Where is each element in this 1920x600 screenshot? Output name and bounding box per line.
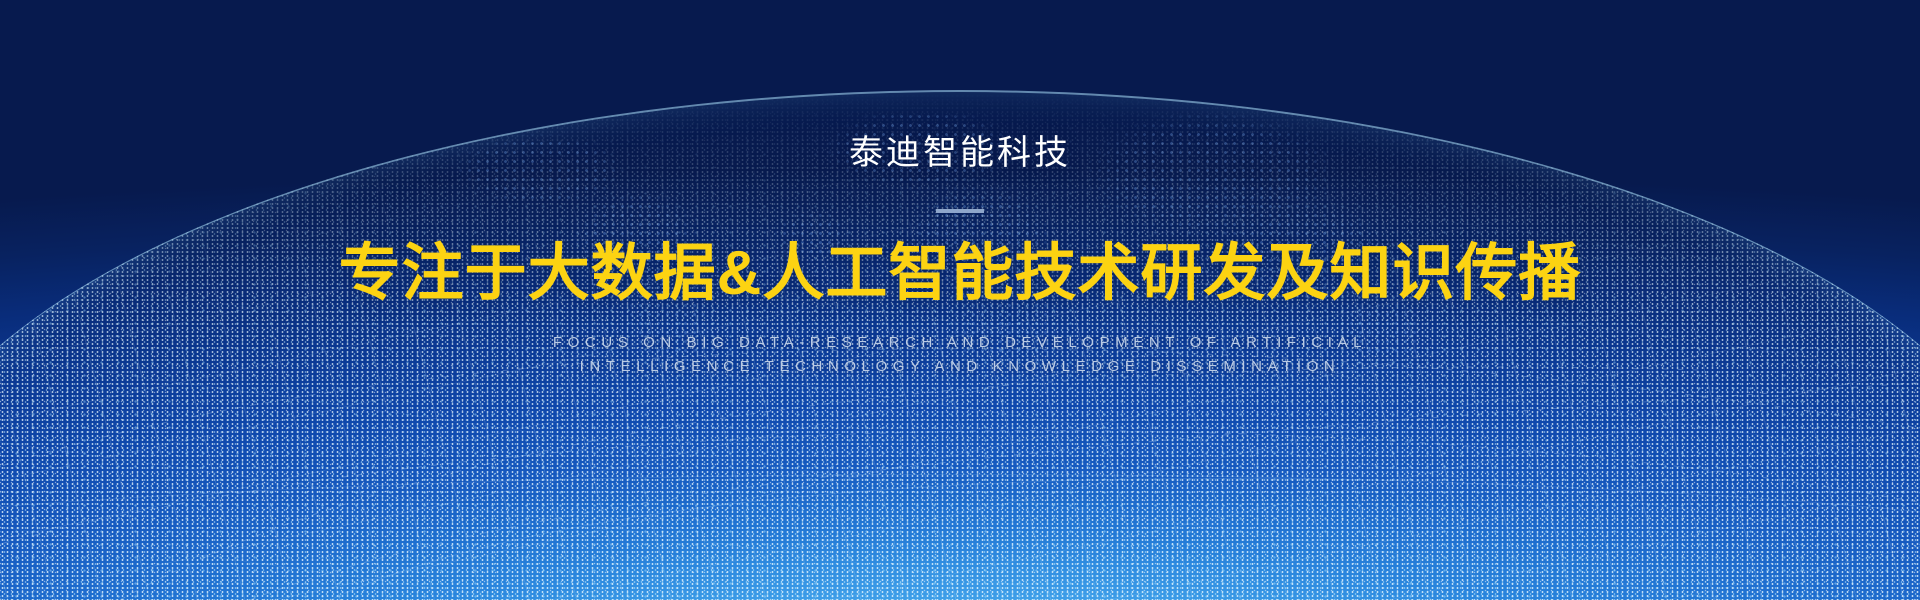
english-subtitle-line-2: INTELLIGENCE TECHNOLOGY AND KNOWLEDGE DI… [553, 355, 1367, 379]
page-title: 专注于大数据&人工智能技术研发及知识传播 [339, 243, 1582, 305]
english-subtitle-line-1: FOCUS ON BIG DATA-RESEARCH AND DEVELOPME… [553, 331, 1367, 355]
hero-banner: 泰迪智能科技 专注于大数据&人工智能技术研发及知识传播 FOCUS ON BIG… [0, 0, 1920, 600]
english-subtitle: FOCUS ON BIG DATA-RESEARCH AND DEVELOPME… [553, 331, 1367, 379]
banner-copy: 泰迪智能科技 专注于大数据&人工智能技术研发及知识传播 FOCUS ON BIG… [0, 0, 1920, 600]
brand-name: 泰迪智能科技 [849, 136, 1071, 170]
divider-rule [936, 209, 984, 213]
